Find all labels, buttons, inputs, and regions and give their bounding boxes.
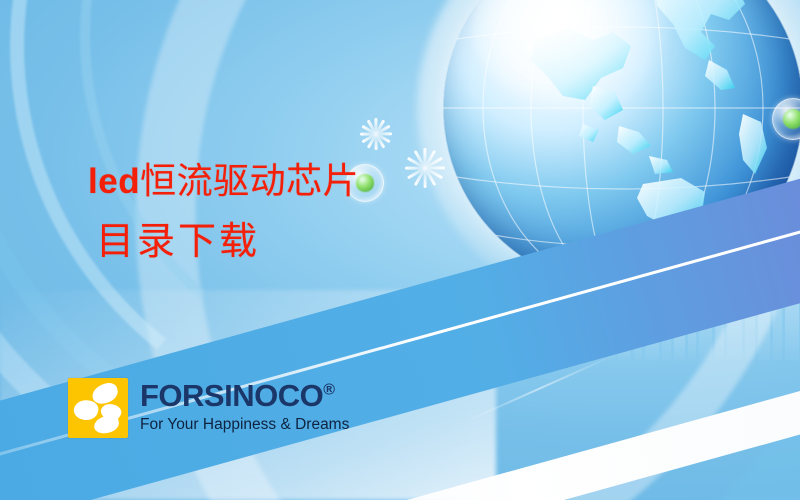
starburst-icon xyxy=(405,148,445,188)
logo-tagline: For Your Happiness & Dreams xyxy=(140,417,349,433)
headline-line-1-cjk: 恒流驱动芯片 xyxy=(140,161,359,201)
logo-name: FORSINOCO® xyxy=(140,380,349,411)
logo-name-text: FORSINOCO xyxy=(140,378,323,413)
four-petal-flower-icon xyxy=(68,378,128,438)
registered-mark: ® xyxy=(323,382,335,399)
headline-line-1-latin: led xyxy=(88,162,140,201)
headline: led恒流驱动芯片 目录下载 xyxy=(88,162,359,262)
headline-line-1: led恒流驱动芯片 xyxy=(88,162,359,200)
headline-line-2: 目录下载 xyxy=(96,222,359,262)
slide-canvas: led恒流驱动芯片 目录下载 FORSINOCO® For Your Happi… xyxy=(0,0,800,500)
starburst-icon xyxy=(360,118,392,150)
company-logo: FORSINOCO® For Your Happiness & Dreams xyxy=(68,378,349,438)
logo-text-block: FORSINOCO® For Your Happiness & Dreams xyxy=(140,378,349,433)
bubble-inner-globe xyxy=(783,109,800,128)
